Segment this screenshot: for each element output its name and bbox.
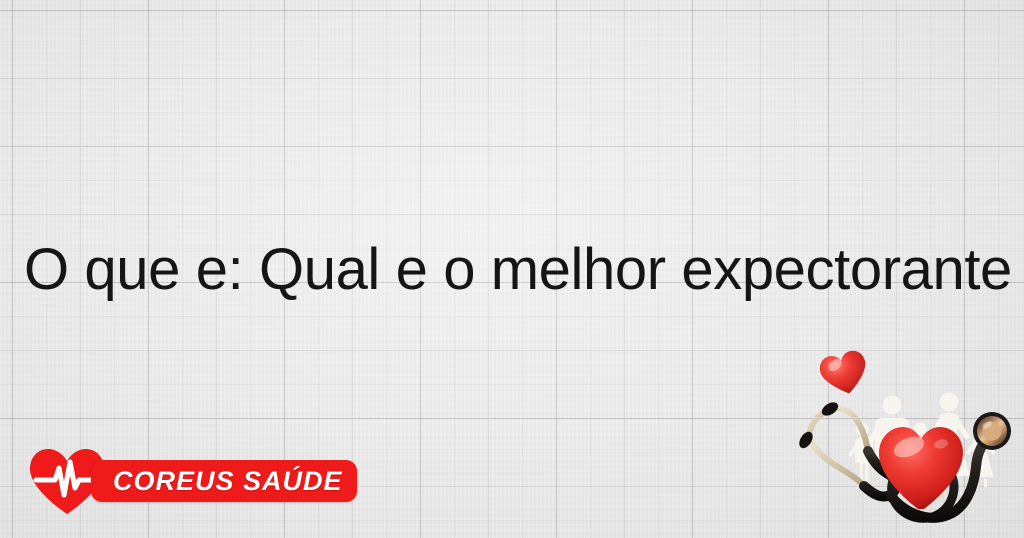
brand-name-label: COREUS SAÚDE: [113, 466, 343, 497]
healthcare-family-illustration: [778, 345, 1024, 538]
page-title: O que e: Qual e o melhor expectorante: [24, 237, 1014, 303]
stethoscope-chestpiece: [973, 412, 1011, 450]
small-heart-icon: [817, 348, 872, 399]
stethoscope-eartips: [797, 400, 841, 451]
brand-logo[interactable]: COREUS SAÚDE: [26, 446, 356, 518]
slide-canvas: O que e: Qual e o melhor expectorante CO…: [0, 0, 1024, 538]
brand-name-banner: COREUS SAÚDE: [91, 460, 357, 502]
